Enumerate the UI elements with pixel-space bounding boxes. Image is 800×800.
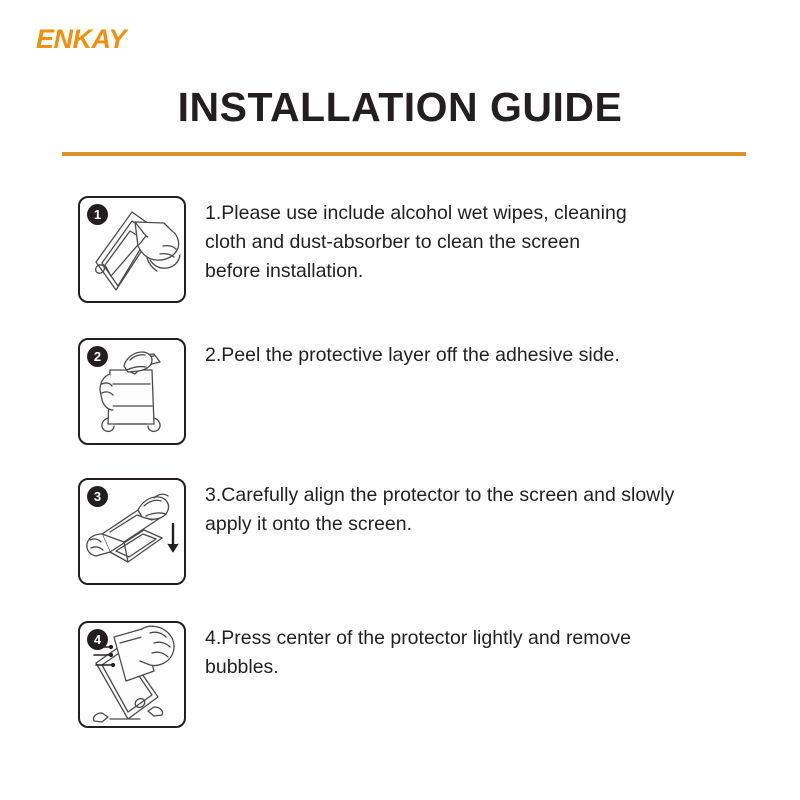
header-divider [62,152,746,156]
step-2-badge: 2 [87,346,108,367]
enkay-logo: ENKAY [36,26,126,53]
step-1-text: 1.Please use include alcohol wet wipes, … [205,199,800,286]
list-item: 4 [0,621,800,761]
step-2-text: 2.Peel the protective layer off the adhe… [205,341,800,370]
installation-guide-page: ENKAY INSTALLATION GUIDE 1 [0,0,800,800]
list-item: 3 [0,478,800,621]
step-4-illustration: 4 [78,621,186,728]
step-4-badge: 4 [87,629,108,650]
step-4-text: 4.Press center of the protector lightly … [205,624,800,682]
list-item: 2 [0,338,800,478]
step-2-illustration: 2 [78,338,186,445]
step-1-illustration: 1 [78,196,186,303]
step-3-badge: 3 [87,486,108,507]
page-title: INSTALLATION GUIDE [0,84,800,131]
step-1-badge: 1 [87,204,108,225]
list-item: 1 [0,196,800,338]
steps-list: 1 [0,196,800,761]
step-3-text: 3.Carefully align the protector to the s… [205,481,800,539]
step-3-illustration: 3 [78,478,186,585]
